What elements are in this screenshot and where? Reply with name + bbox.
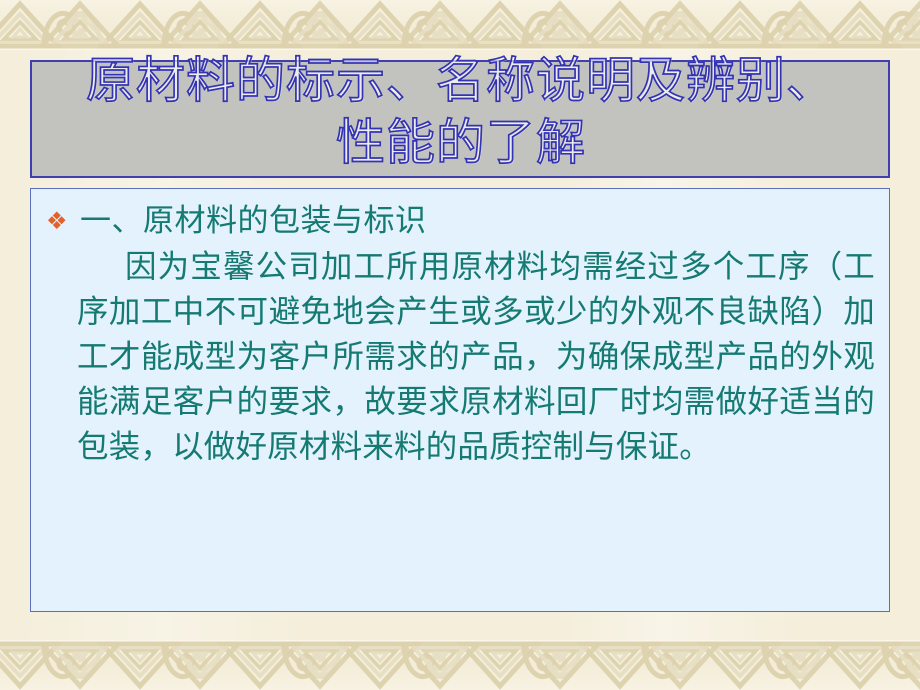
slide-content-inner: ❖ 一、原材料的包装与标识 因为宝馨公司加工所用原材料均需经过多个工序（工序加工… xyxy=(43,199,879,470)
bottom-border-ornament xyxy=(0,640,920,690)
content-heading-row: ❖ 一、原材料的包装与标识 xyxy=(43,199,879,243)
slide-title-box xyxy=(30,60,890,178)
bottom-border-pattern-icon xyxy=(0,640,920,690)
content-paragraph: 因为宝馨公司加工所用原材料均需经过多个工序（工序加工中不可避免地会产生或多或少的… xyxy=(77,245,879,470)
top-border-ornament xyxy=(0,0,920,50)
slide-content-box: ❖ 一、原材料的包装与标识 因为宝馨公司加工所用原材料均需经过多个工序（工序加工… xyxy=(30,188,890,612)
top-border-pattern-icon xyxy=(0,0,920,50)
diamond-cluster-bullet-icon: ❖ xyxy=(43,199,80,243)
slide-canvas: 原材料的标示、名称说明及辨别、性能的了解 ❖ 一、原材料的包装与标识 因为宝馨公… xyxy=(0,0,920,690)
content-heading-text: 一、原材料的包装与标识 xyxy=(80,199,879,243)
